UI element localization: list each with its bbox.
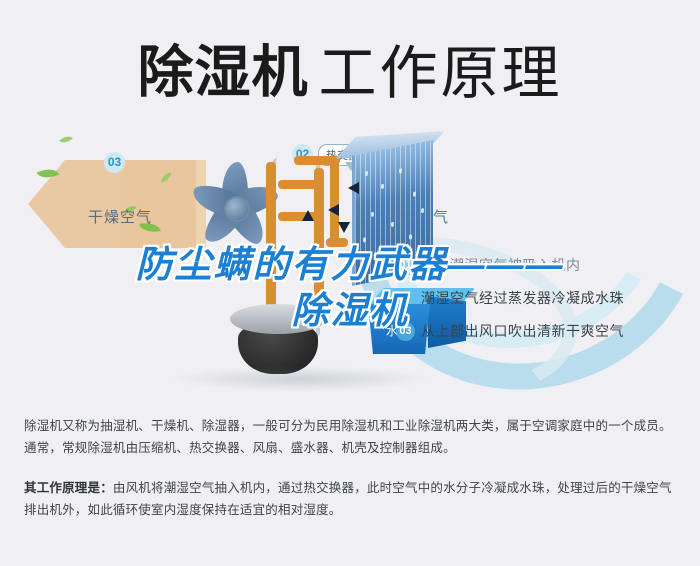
paragraph-lead: 其工作原理是： [24,481,113,495]
step-badge: 03 [396,322,415,341]
title-primary: 除湿机 [137,41,308,104]
step-caption-list: 01 室内潮湿空气被吸入机内 02 潮湿空气经过蒸发器冷凝成水珠 03 从上部出… [396,255,686,354]
body-copy: 除湿机又称为抽湿机、干燥机、除湿器，一般可分为民用除湿机和工业除湿机两大类，属于… [24,415,680,539]
step-item: 03 从上部出风口吹出清新干爽空气 [396,321,686,341]
compressor [226,298,330,374]
step-item: 01 室内潮湿空气被吸入机内 [396,255,686,275]
infographic-page: 除湿机工作原理 03 干燥空气 01 潮湿空气 02 热交换器 [0,0,700,566]
airflow-arrow-icon [338,222,350,233]
airflow-arrow-icon [302,210,314,221]
step-text: 室内潮湿空气被吸入机内 [421,255,581,275]
step-item: 02 潮湿空气经过蒸发器冷凝成水珠 [396,288,686,308]
paragraph-principle: 其工作原理是：由风机将潮湿空气抽入机内，通过热交换器，此时空气中的水分子冷凝成水… [24,477,680,521]
diagram-badge-dry-air: 03 [104,152,125,173]
step-text: 从上部出风口吹出清新干爽空气 [421,321,624,341]
paragraph-principle-text: 由风机将潮湿空气抽入机内，通过热交换器，此时空气中的水分子冷凝成水珠，处理过后的… [24,481,672,517]
airflow-arrow-icon [348,182,359,194]
ground-shadow [170,366,430,392]
step-badge: 01 [396,256,415,275]
paragraph-definition: 除湿机又称为抽湿机、干燥机、除湿器，一般可分为民用除湿机和工业除湿机两大类，属于… [24,415,680,459]
dry-air-label: 干燥空气 [88,206,152,227]
airflow-arrow-icon [328,204,339,216]
step-text: 潮湿空气经过蒸发器冷凝成水珠 [421,288,624,308]
leaf-icon [59,133,73,146]
